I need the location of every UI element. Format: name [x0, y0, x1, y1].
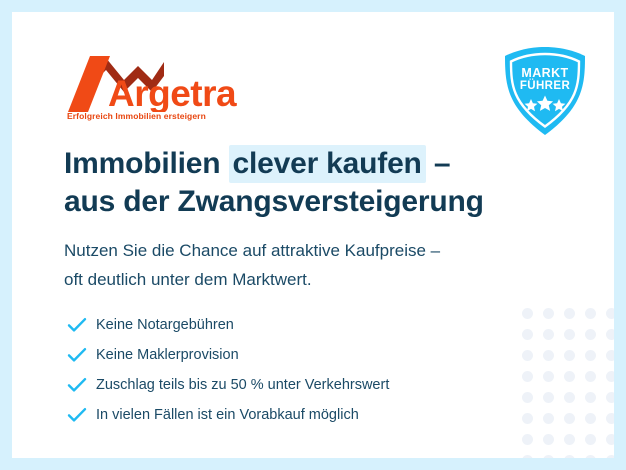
headline: Immobilien clever kaufen – aus der Zwang…: [64, 145, 584, 221]
banner-card: Argetra Erfolgreich Immobilien ersteiger…: [12, 12, 614, 458]
check-icon: [67, 374, 93, 396]
headline-highlight: clever kaufen: [229, 145, 426, 183]
list-item-label: Zuschlag teils bis zu 50 % unter Verkehr…: [93, 377, 389, 393]
svg-text:Argetra: Argetra: [108, 73, 237, 112]
logo-mark-icon: Argetra: [66, 54, 266, 112]
list-item: Keine Maklerprovision: [67, 340, 537, 370]
market-leader-badge: MARKT FÜHRER: [501, 45, 589, 137]
shield-badge-icon: [501, 45, 589, 137]
subtitle-line-2: oft deutlich unter dem Marktwert.: [64, 265, 564, 294]
list-item: Keine Notargebühren: [67, 310, 537, 340]
subtitle-line-1: Nutzen Sie die Chance auf attraktive Kau…: [64, 236, 564, 265]
benefits-checklist: Keine Notargebühren Keine Maklerprovisio…: [67, 310, 537, 430]
headline-post: –: [426, 147, 451, 180]
headline-line-2: aus der Zwangsversteigerung: [64, 183, 584, 221]
check-icon: [67, 404, 93, 426]
promo-banner: Argetra Erfolgreich Immobilien ersteiger…: [0, 0, 626, 470]
list-item: Zuschlag teils bis zu 50 % unter Verkehr…: [67, 370, 537, 400]
logo-tagline: Erfolgreich Immobilien ersteigern: [67, 111, 206, 121]
check-icon: [67, 314, 93, 336]
list-item: In vielen Fällen ist ein Vorabkauf mögli…: [67, 400, 537, 430]
check-icon: [67, 344, 93, 366]
list-item-label: In vielen Fällen ist ein Vorabkauf mögli…: [93, 407, 359, 423]
headline-line-1: Immobilien clever kaufen –: [64, 145, 584, 183]
list-item-label: Keine Maklerprovision: [93, 347, 239, 363]
argetra-logo: Argetra Erfolgreich Immobilien ersteiger…: [66, 54, 266, 126]
headline-pre: Immobilien: [64, 147, 229, 180]
subtitle: Nutzen Sie die Chance auf attraktive Kau…: [64, 236, 564, 294]
list-item-label: Keine Notargebühren: [93, 317, 234, 333]
